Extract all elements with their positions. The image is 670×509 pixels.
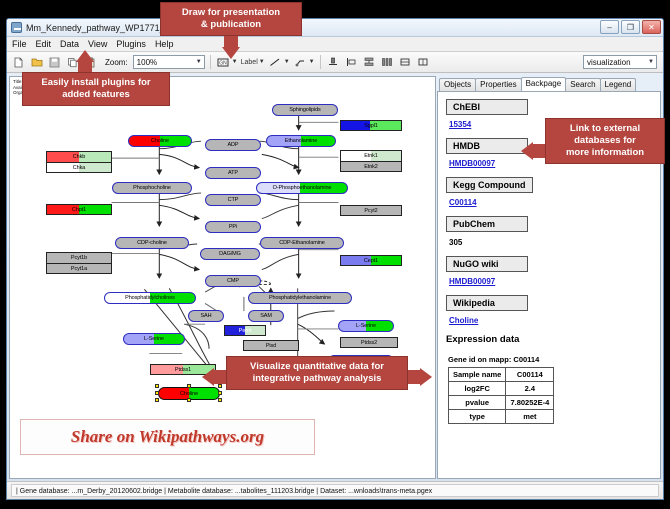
section-heading-wikipedia: Wikipedia — [446, 295, 528, 311]
common-height-icon[interactable] — [416, 55, 431, 70]
node-label: Pcyt1a — [71, 266, 87, 272]
table-row: pvalue 7.80252E-4 — [449, 396, 554, 410]
metabolite-node[interactable]: SAM — [248, 310, 284, 322]
metabolite-node[interactable]: SAH — [188, 310, 224, 322]
callout-draw-arrow — [222, 47, 240, 59]
line-icon[interactable] — [268, 55, 283, 70]
node-label: Phosphatidylcholines — [125, 295, 175, 301]
metabolite-node[interactable]: Choline — [128, 135, 192, 147]
tab-backpage[interactable]: Backpage — [521, 77, 567, 91]
metabolite-node[interactable]: Phosphatidylcholines — [104, 292, 196, 304]
metabolite-node[interactable]: Phosphatidylethanolamine — [248, 292, 352, 304]
callout-visualize-line2: integrative pathway analysis — [235, 373, 399, 385]
table-row: log2FC 2.4 — [449, 382, 554, 396]
section-heading-chebi: ChEBI — [446, 99, 528, 115]
gene-node[interactable]: Sgpl1 — [340, 120, 402, 131]
row-value: 7.80252E-4 — [506, 396, 554, 410]
metabolite-node[interactable]: L-Serine — [338, 320, 394, 332]
minimize-button[interactable]: – — [600, 20, 619, 34]
callout-links-line2: databases for — [554, 135, 656, 147]
node-label: Pcyt1b — [71, 255, 87, 261]
metabolite-node[interactable]: L-Serine — [123, 333, 185, 345]
menu-item-edit[interactable]: Edit — [36, 39, 52, 49]
chevron-down-icon[interactable]: ▼ — [284, 59, 290, 65]
row-key: log2FC — [449, 382, 506, 396]
menu-item-help[interactable]: Help — [155, 39, 174, 49]
menu-item-data[interactable]: Data — [60, 39, 79, 49]
node-label: CMP — [227, 278, 239, 284]
callout-links: Link to external databases for more info… — [545, 118, 665, 164]
node-label: Sphingolipids — [289, 107, 320, 113]
callout-draw-line2: & publication — [169, 19, 293, 31]
node-label: ATP — [228, 170, 238, 176]
common-width-icon[interactable] — [398, 55, 413, 70]
callout-links-line1: Link to external — [554, 123, 656, 135]
visualization-combo[interactable]: visualization ▼ — [583, 55, 657, 69]
node-label: CDP-Ethanolamine — [279, 240, 324, 246]
new-icon[interactable] — [11, 55, 26, 70]
window-buttons: – ❐ ✕ — [600, 20, 661, 34]
node-label: PPi — [229, 224, 237, 230]
node-label: L-Serine — [356, 323, 376, 329]
nugo-link[interactable]: HMDB00097 — [449, 277, 652, 286]
node-label: ADP — [227, 142, 238, 148]
menu-item-plugins[interactable]: Plugins — [116, 39, 146, 49]
expression-table: Sample name C00114 log2FC 2.4 pvalue 7.8… — [448, 367, 554, 424]
gene-node[interactable]: Ptdss2 — [340, 337, 398, 348]
status-text: | Gene database: ...m_Derby_20120602.bri… — [11, 484, 659, 497]
chevron-down-icon[interactable]: ▼ — [232, 59, 238, 65]
align-top-icon[interactable] — [326, 55, 341, 70]
gene-id-line: Gene id on mapp: C00114 — [448, 355, 652, 364]
selected-node-group[interactable]: Choline — [158, 387, 220, 400]
metabolite-node[interactable]: ATP — [205, 167, 261, 179]
side-panel-tabs: Objects Properties Backpage Search Legen… — [437, 76, 661, 91]
align-left-icon[interactable] — [344, 55, 359, 70]
kegg-link[interactable]: C00114 — [449, 198, 652, 207]
callout-visualize-line1: Visualize quantitative data for — [235, 361, 399, 373]
node-label: Ptdss2 — [361, 340, 377, 346]
node-label: Cept1 — [364, 258, 378, 264]
gene-node[interactable]: Etnk1 — [340, 150, 402, 161]
gene-node[interactable]: Chpt1 — [46, 204, 112, 215]
interaction-icon[interactable] — [293, 55, 308, 70]
metabolite-node[interactable]: CMP — [205, 275, 261, 287]
menu-bar: File Edit Data View Plugins Help — [7, 37, 663, 52]
gene-node[interactable]: Pcyt2 — [340, 205, 402, 216]
row-value: 2.4 — [506, 382, 554, 396]
row-key: Sample name — [449, 368, 506, 382]
table-row: type met — [449, 410, 554, 424]
callout-links-arrow — [521, 142, 533, 160]
node-label: Chka — [73, 165, 85, 171]
metabolite-node[interactable]: Sphingolipids — [272, 104, 338, 116]
row-value: C00114 — [506, 368, 554, 382]
metabolite-node[interactable]: CDP-Ethanolamine — [260, 237, 344, 249]
menu-item-file[interactable]: File — [12, 39, 27, 49]
chevron-down-icon[interactable]: ▼ — [259, 59, 265, 65]
resize-handle-nw[interactable] — [155, 384, 159, 388]
section-heading-nugo: NuGO wiki — [446, 256, 528, 272]
chevron-down-icon: ▼ — [648, 59, 654, 65]
node-label: Etnk2 — [364, 164, 378, 170]
table-row: Sample name C00114 — [449, 368, 554, 382]
node-label: O-Phosphoethanolamine — [273, 185, 332, 191]
title-bar: Mm_Kennedy_pathway_WP1771_45176.gpml – ❐… — [7, 19, 663, 37]
close-button[interactable]: ✕ — [642, 20, 661, 34]
callout-share: Share on Wikipathways.org — [20, 419, 315, 455]
gene-node[interactable]: Pemt — [224, 325, 266, 336]
node-label: Choline — [180, 391, 198, 397]
metabolite-node[interactable]: DAG/MG — [200, 248, 260, 260]
section-heading-hmdb: HMDB — [446, 138, 528, 154]
metabolite-node[interactable]: Ethanolamine — [266, 135, 336, 147]
chevron-down-icon[interactable]: ▼ — [309, 59, 315, 65]
pathway-drawing: Title: Availa Organi — [10, 77, 435, 478]
gene-node[interactable]: Pcyt1b — [46, 252, 112, 263]
chevron-down-icon: ▼ — [196, 59, 202, 65]
toolbar-separator — [210, 55, 211, 69]
node-label: SAH — [200, 313, 211, 319]
section-heading-kegg: Kegg Compound — [446, 177, 533, 193]
callout-plugins-line2: added features — [31, 89, 161, 101]
tab-legend[interactable]: Legend — [600, 78, 637, 91]
toolbar-separator — [320, 55, 321, 69]
node-label: Pisd — [266, 343, 276, 349]
node-label: Ptdss1 — [175, 367, 191, 373]
metabolite-node[interactable]: Phosphocholine — [112, 182, 192, 194]
gene-node[interactable]: Chka — [46, 162, 112, 173]
visualization-value: visualization — [587, 58, 631, 67]
node-label: DAG/MG — [219, 251, 241, 257]
tab-search[interactable]: Search — [565, 78, 600, 91]
zoom-value: 100% — [137, 58, 157, 67]
zoom-combo[interactable]: 100% ▼ — [133, 55, 205, 69]
toolbar: Zoom: 100% ▼ GN ▼ Label ▼ ▼ — [7, 52, 663, 73]
callout-draw: Draw for presentation & publication — [160, 2, 302, 36]
resize-handle-n[interactable] — [187, 384, 191, 388]
callout-share-text: Share on Wikipathways.org — [71, 427, 264, 447]
callout-visualize-stem-right — [407, 370, 421, 384]
metabolite-node[interactable]: ADP — [205, 139, 261, 151]
callout-draw-line1: Draw for presentation — [169, 7, 293, 19]
node-label: Ethanolamine — [285, 138, 317, 144]
node-label: SAM — [260, 313, 272, 319]
callout-visualize: Visualize quantitative data for integrat… — [226, 356, 408, 390]
resize-handle-e[interactable] — [218, 391, 222, 395]
node-label: Choline — [151, 138, 169, 144]
tab-properties[interactable]: Properties — [475, 78, 521, 91]
row-key: pvalue — [449, 396, 506, 410]
callout-plugins-line1: Easily install plugins for — [31, 77, 161, 89]
zoom-label: Zoom: — [105, 58, 128, 67]
open-icon[interactable] — [29, 55, 44, 70]
node-label: Phosphatidylethanolamine — [269, 295, 331, 301]
gene-node[interactable]: Pisd — [243, 340, 299, 351]
callout-visualize-arrow-left — [202, 368, 214, 386]
node-label: Pemt — [239, 328, 251, 334]
distribute-icon[interactable] — [380, 55, 395, 70]
resize-handle-w[interactable] — [155, 391, 159, 395]
callout-links-line3: more information — [554, 147, 656, 159]
app-icon — [11, 22, 22, 33]
wikipedia-link[interactable]: Choline — [449, 316, 652, 325]
node-label: CDP-choline — [137, 240, 167, 246]
node-label: Chpt1 — [72, 207, 86, 213]
row-value: met — [506, 410, 554, 424]
gene-node[interactable]: Cept1 — [340, 255, 402, 266]
metabolite-node[interactable]: CTP — [205, 194, 261, 206]
callout-plugins: Easily install plugins for added feature… — [22, 72, 170, 106]
node-label: CTP — [228, 197, 239, 203]
gene-node[interactable]: Chkb — [46, 151, 112, 162]
node-label: Phosphocholine — [133, 185, 171, 191]
callout-draw-stem — [224, 34, 238, 48]
gene-node[interactable]: Etnk2 — [340, 161, 402, 172]
menu-item-view[interactable]: View — [88, 39, 107, 49]
tab-objects[interactable]: Objects — [439, 78, 476, 91]
expression-data-title: Expression data — [446, 334, 652, 345]
metabolite-node[interactable]: PPi — [205, 221, 261, 233]
svg-text:GN: GN — [219, 60, 227, 66]
metabolite-node[interactable]: O-Phosphoethanolamine — [256, 182, 348, 194]
node-label: Pcyt2 — [364, 208, 377, 214]
row-key: type — [449, 410, 506, 424]
save-icon[interactable] — [47, 55, 62, 70]
maximize-button[interactable]: ❐ — [621, 20, 640, 34]
node-label: Chkb — [73, 154, 85, 160]
resize-handle-sw[interactable] — [155, 398, 159, 402]
node-label: Sgpl1 — [364, 123, 378, 129]
gene-node[interactable]: Pcyt1a — [46, 263, 112, 274]
label-tool-label[interactable]: Label — [241, 59, 258, 66]
status-bar: | Gene database: ...m_Derby_20120602.bri… — [7, 481, 663, 499]
resize-handle-se[interactable] — [218, 398, 222, 402]
resize-handle-ne[interactable] — [218, 384, 222, 388]
section-heading-pubchem: PubChem — [446, 216, 528, 232]
callout-visualize-arrow-right — [420, 368, 432, 386]
resize-handle-s[interactable] — [187, 398, 191, 402]
callout-plugins-arrow — [76, 50, 94, 62]
screenshot-root: Mm_Kennedy_pathway_WP1771_45176.gpml – ❐… — [0, 0, 670, 509]
pubchem-value: 305 — [449, 238, 652, 247]
metabolite-node[interactable]: CDP-choline — [115, 237, 189, 249]
stack-icon[interactable] — [362, 55, 377, 70]
node-label: Etnk1 — [364, 153, 378, 159]
node-label: L-Serine — [144, 336, 164, 342]
